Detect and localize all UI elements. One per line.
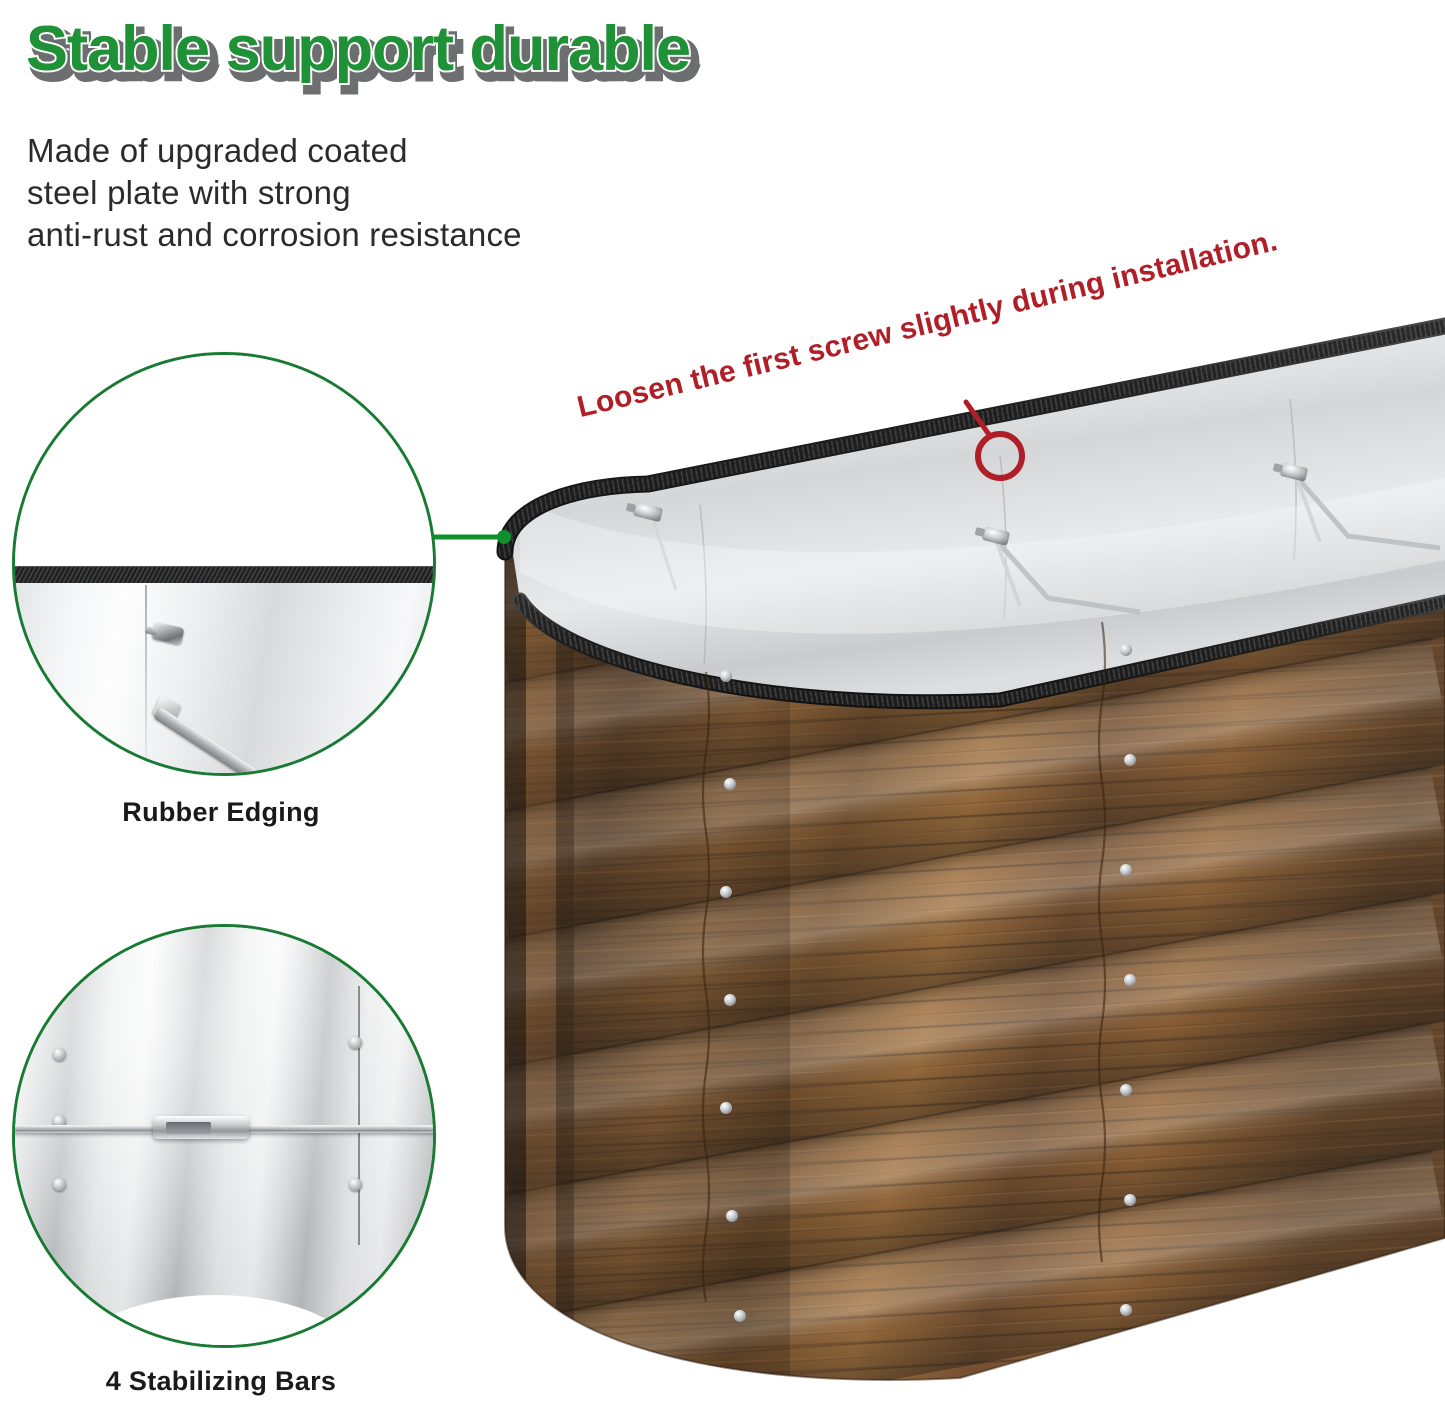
infographic-page: Stable support durable Stable support du…	[0, 0, 1445, 1406]
metal-panel	[15, 583, 433, 775]
screw-icon	[53, 1178, 66, 1191]
callout-rubber-background	[15, 355, 433, 572]
panel-seam	[358, 986, 360, 1245]
screw-icon	[349, 1036, 362, 1049]
callout-label-stabilizing-bars: 4 Stabilizing Bars	[6, 1366, 436, 1397]
screw-icon	[53, 1048, 66, 1061]
callout-stabilizing-bars	[12, 924, 436, 1348]
callout-rubber-edging	[12, 352, 436, 776]
callout-label-rubber-edging: Rubber Edging	[6, 797, 436, 828]
turnbuckle-icon	[153, 1116, 249, 1139]
panel-seam	[145, 585, 147, 773]
